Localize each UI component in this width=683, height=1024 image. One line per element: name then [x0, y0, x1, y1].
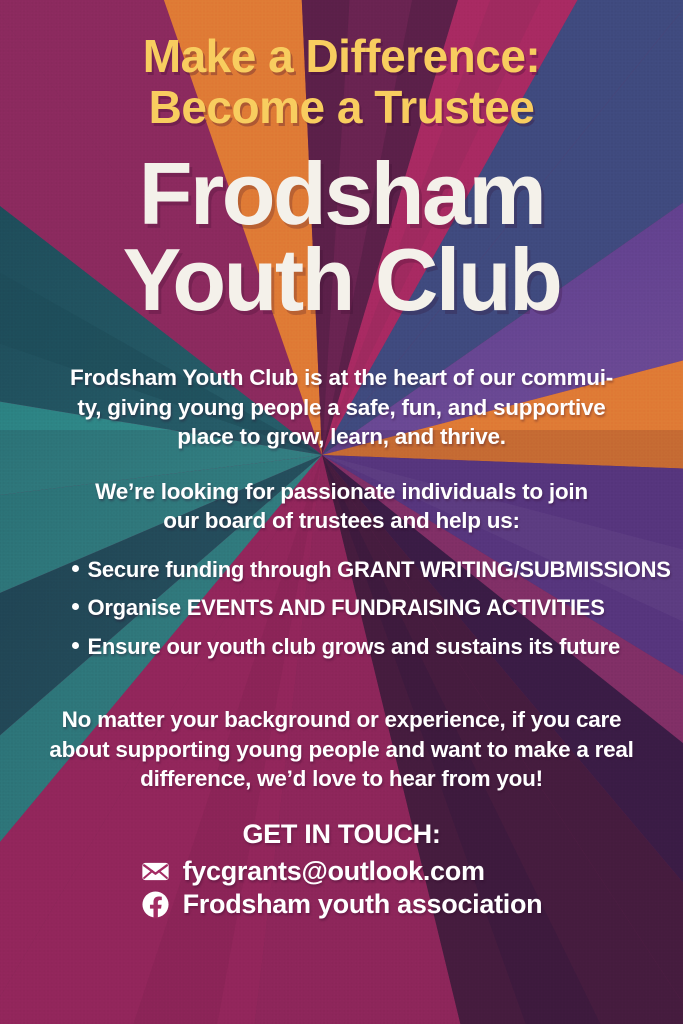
- list-item: Organise EVENTS AND FUNDRAISING ACTIVITI…: [38, 596, 646, 621]
- contact-facebook[interactable]: Frodsham youth association: [141, 889, 543, 920]
- closing-line-3: difference, we’d love to hear from you!: [49, 764, 633, 793]
- intro-paragraph: Frodsham Youth Club is at the heart of o…: [70, 363, 613, 451]
- intro-line-1: Frodsham Youth Club is at the heart of o…: [70, 363, 613, 392]
- bullet-dot-icon: [72, 642, 79, 649]
- kicker-line-2: Become a Trustee: [143, 85, 541, 130]
- email-address: fycgrants@outlook.com: [183, 856, 485, 887]
- email-icon: [141, 857, 170, 886]
- title-line-1: Frodsham: [123, 152, 561, 236]
- closing-paragraph: No matter your background or experience,…: [49, 705, 633, 793]
- bullet-dot-icon: [72, 565, 79, 572]
- bullet-dot-icon: [72, 603, 79, 610]
- kicker-headline: Make a Difference: Become a Trustee: [143, 34, 541, 130]
- closing-line-2: about supporting young people and want t…: [49, 735, 633, 764]
- title-line-2: Youth Club: [123, 238, 561, 322]
- ask-paragraph: We’re looking for passionate individuals…: [95, 477, 588, 536]
- list-item: Ensure our youth club grows and sustains…: [38, 635, 646, 660]
- facebook-page-name: Frodsham youth association: [183, 889, 543, 920]
- get-in-touch-heading: GET IN TOUCH:: [242, 819, 440, 850]
- trustee-duties-list: Secure funding through GRANT WRITING/SUB…: [38, 558, 646, 674]
- ask-line-1: We’re looking for passionate individuals…: [95, 477, 588, 506]
- contact-email[interactable]: fycgrants@outlook.com: [141, 856, 543, 887]
- organisation-title: Frodsham Youth Club: [123, 152, 561, 321]
- kicker-line-1: Make a Difference:: [143, 34, 541, 79]
- list-item: Secure funding through GRANT WRITING/SUB…: [38, 558, 646, 583]
- ask-line-2: our board of trustees and help us:: [95, 506, 588, 535]
- bullet-label: Secure funding through GRANT WRITING/SUB…: [88, 558, 671, 583]
- poster-content: Make a Difference: Become a Trustee Frod…: [0, 0, 683, 1024]
- facebook-icon: [141, 890, 170, 919]
- intro-line-2: ty, giving young people a safe, fun, and…: [70, 393, 613, 422]
- bullet-label: Organise EVENTS AND FUNDRAISING ACTIVITI…: [88, 596, 605, 621]
- bullet-label: Ensure our youth club grows and sustains…: [88, 635, 620, 660]
- contact-list: fycgrants@outlook.com Frodsham youth ass…: [141, 856, 543, 920]
- intro-line-3: place to grow, learn, and thrive.: [70, 422, 613, 451]
- closing-line-1: No matter your background or experience,…: [49, 705, 633, 734]
- poster-canvas: Make a Difference: Become a Trustee Frod…: [0, 0, 683, 1024]
